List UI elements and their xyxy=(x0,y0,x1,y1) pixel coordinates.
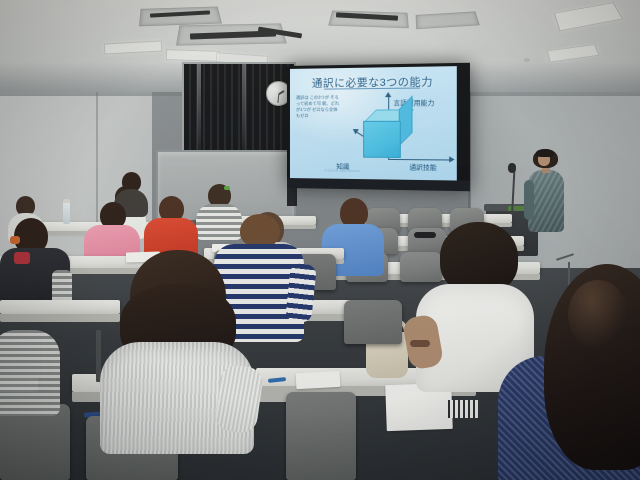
chair xyxy=(344,300,402,344)
smoke-detector xyxy=(524,58,530,62)
presenter xyxy=(524,146,568,236)
presenter-fringe xyxy=(536,149,554,157)
slide-note-text: 通訳は この3つが そろって初めて可 能、どれが1つが ゼロなら全体もゼロ xyxy=(296,95,340,120)
printed-handout xyxy=(296,371,341,389)
axis-label-horizontal: 通訳技能 xyxy=(409,162,436,172)
window-with-blinds xyxy=(182,62,296,154)
cube-front-face xyxy=(363,121,401,158)
attendee-light-gray-pinstripe xyxy=(100,250,254,450)
handout-barcode xyxy=(448,400,478,418)
clock-minute-hand xyxy=(277,94,279,103)
axis-label-vertical: 言語運用能力 xyxy=(393,98,434,108)
torso xyxy=(0,330,60,416)
hair-clip xyxy=(10,236,20,244)
eyeglasses-on-desk xyxy=(414,232,436,238)
classroom-photo: 通訳に必要な3つの能力 通訳は この3つが そろって初めて可 能、どれが1つが … xyxy=(0,0,640,480)
head xyxy=(240,214,280,248)
hair-clip xyxy=(224,186,230,190)
attendee-foreground-left-edge xyxy=(0,330,60,416)
hair-highlight xyxy=(568,280,628,350)
axis-horizontal xyxy=(388,159,450,161)
microphone-icon xyxy=(508,163,516,173)
chair xyxy=(286,392,356,480)
blind-highlight xyxy=(197,64,201,152)
projection-screen: 通訳に必要な3つの能力 通訳は この3つが そろって初めて可 能、どれが1つが … xyxy=(287,63,470,192)
blind-highlight xyxy=(242,64,246,152)
bottle-cap xyxy=(63,199,70,203)
attendee-navy-lace-top xyxy=(498,270,640,480)
slide-surface: 通訳に必要な3つの能力 通訳は この3つが そろって初めて可 能、どれが1つが … xyxy=(290,66,457,180)
slide-footer-text: © 2013 All rights reserved xyxy=(324,168,359,173)
bracelet xyxy=(410,340,430,347)
attendee-red-orange-top xyxy=(144,196,198,258)
ceiling-light xyxy=(166,49,220,62)
presenter-arm xyxy=(524,180,534,220)
shoulder-accent xyxy=(14,252,30,264)
